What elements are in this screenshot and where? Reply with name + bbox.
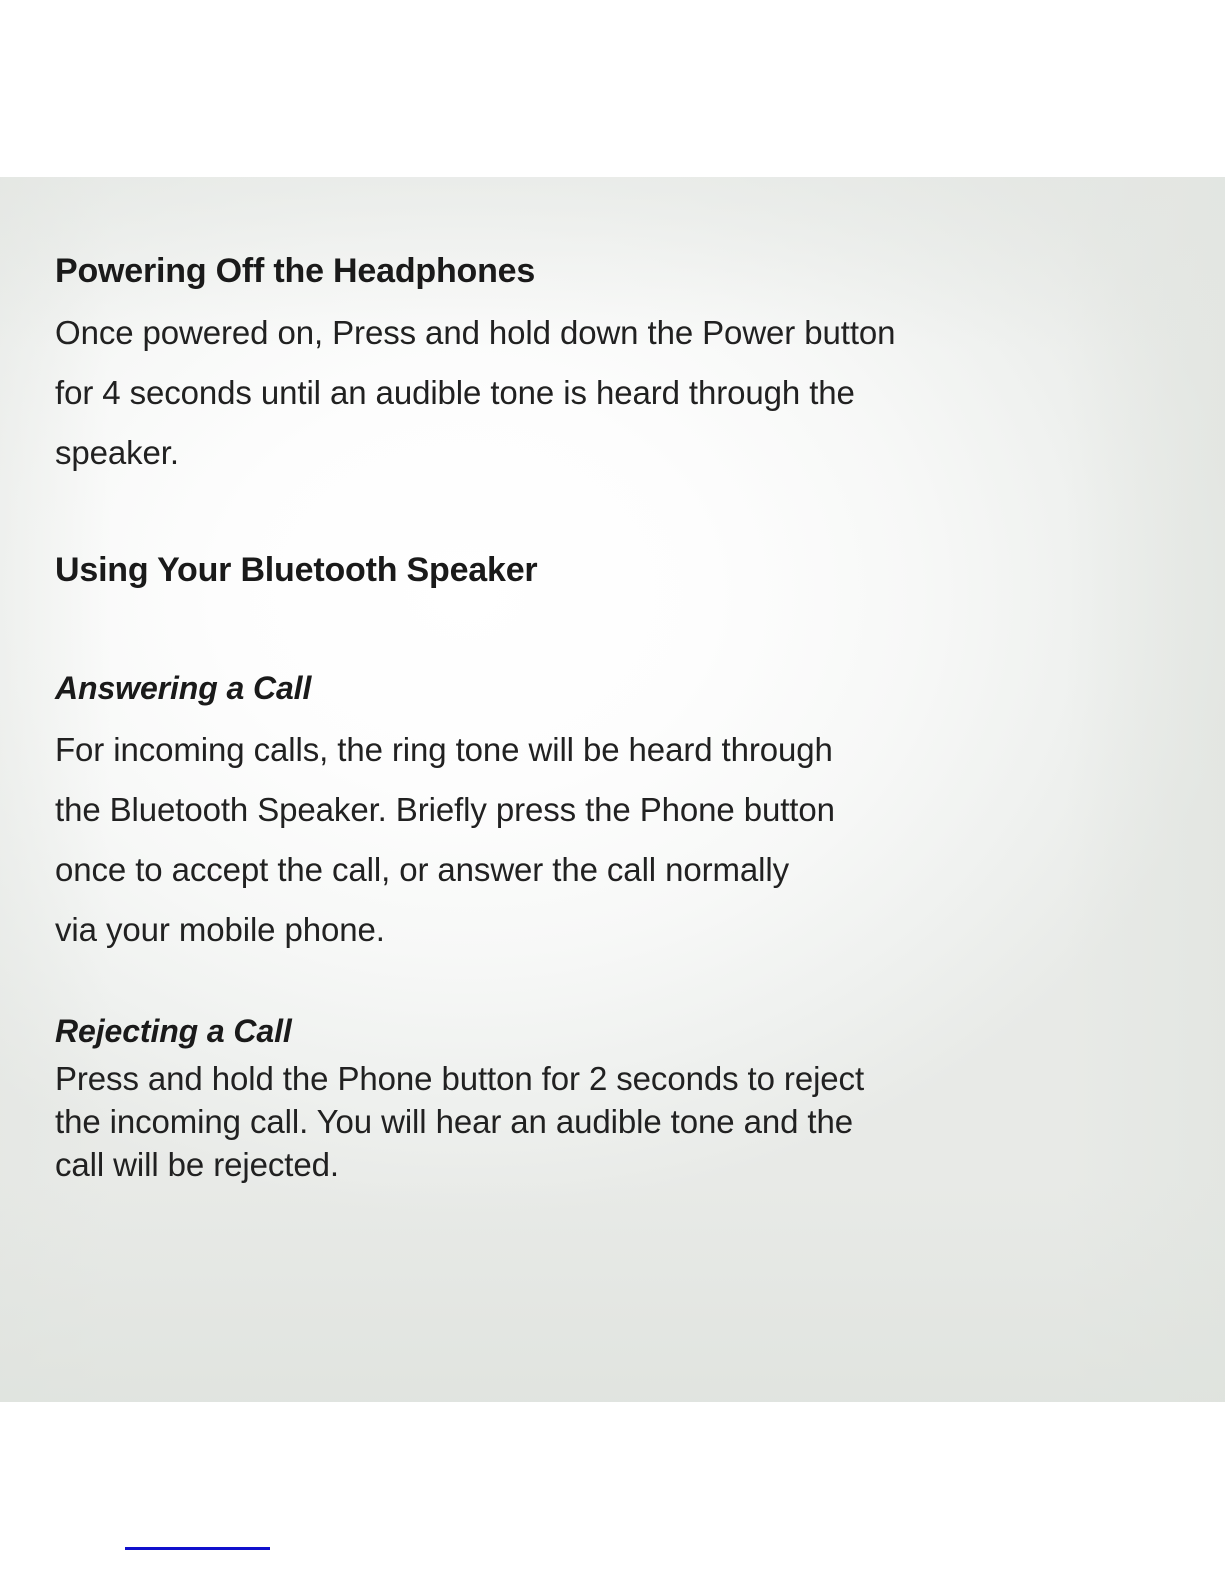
subsection-heading-answering-a-call: Answering a Call <box>55 672 311 704</box>
subsection-body-rejecting-a-call: Press and hold the Phone button for 2 se… <box>55 1057 864 1186</box>
section-body-powering-off: Once powered on, Press and hold down the… <box>55 303 895 483</box>
body-line: Press and hold the Phone button for 2 se… <box>55 1057 864 1100</box>
body-line: Once powered on, Press and hold down the… <box>55 303 895 363</box>
section-heading-powering-off: Powering Off the Headphones <box>55 254 535 288</box>
body-line: the Bluetooth Speaker. Briefly press the… <box>55 780 835 840</box>
heading-text: Powering Off the Headphones <box>55 254 535 288</box>
subsection-heading-rejecting-a-call: Rejecting a Call <box>55 1015 292 1047</box>
paragraph: Once powered on, Press and hold down the… <box>55 303 895 483</box>
body-line: for 4 seconds until an audible tone is h… <box>55 363 895 423</box>
subheading-text: Rejecting a Call <box>55 1015 292 1047</box>
body-line: once to accept the call, or answer the c… <box>55 840 835 900</box>
document-page: Powering Off the Headphones Once powered… <box>0 0 1225 1585</box>
section-heading-using-bluetooth-speaker: Using Your Bluetooth Speaker <box>55 553 537 587</box>
link-underline[interactable] <box>125 1547 270 1550</box>
body-line: For incoming calls, the ring tone will b… <box>55 720 835 780</box>
subsection-body-answering-a-call: For incoming calls, the ring tone will b… <box>55 720 835 960</box>
body-line: call will be rejected. <box>55 1143 864 1186</box>
body-line: via your mobile phone. <box>55 900 835 960</box>
heading-text: Using Your Bluetooth Speaker <box>55 553 537 587</box>
paragraph: For incoming calls, the ring tone will b… <box>55 720 835 960</box>
subheading-text: Answering a Call <box>55 672 311 704</box>
body-line: speaker. <box>55 423 895 483</box>
body-line: the incoming call. You will hear an audi… <box>55 1100 864 1143</box>
paragraph: Press and hold the Phone button for 2 se… <box>55 1057 864 1186</box>
